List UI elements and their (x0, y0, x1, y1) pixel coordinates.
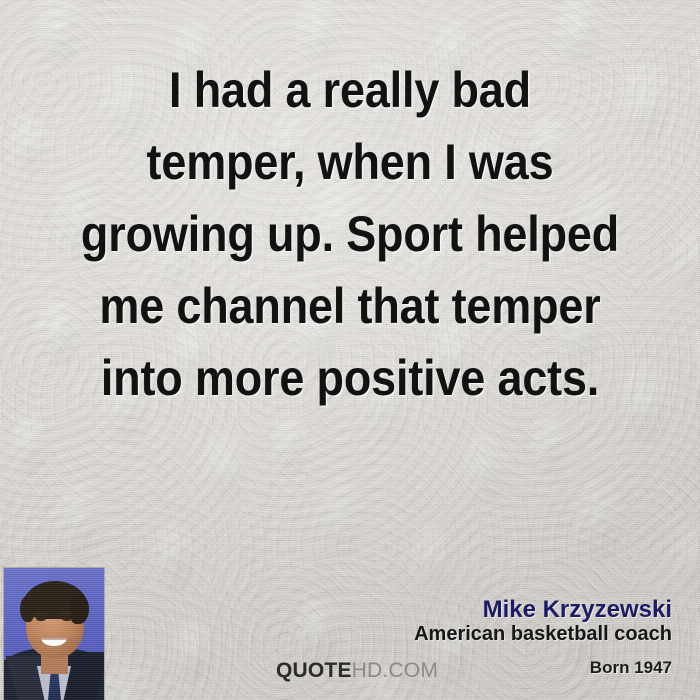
quotehd-watermark: QUOTEHD.COM (276, 659, 438, 683)
watermark-secondary-text: HD.COM (352, 659, 438, 682)
watermark-primary-text: QUOTE (276, 659, 352, 682)
portrait-photo (4, 568, 104, 700)
portrait-grain (4, 568, 104, 700)
author-name: Mike Krzyzewski (252, 596, 672, 623)
author-role: American basketball coach (252, 623, 672, 646)
quote-text: I had a really bad temper, when I was gr… (57, 54, 644, 414)
quote-card: I had a really bad temper, when I was gr… (0, 0, 700, 700)
